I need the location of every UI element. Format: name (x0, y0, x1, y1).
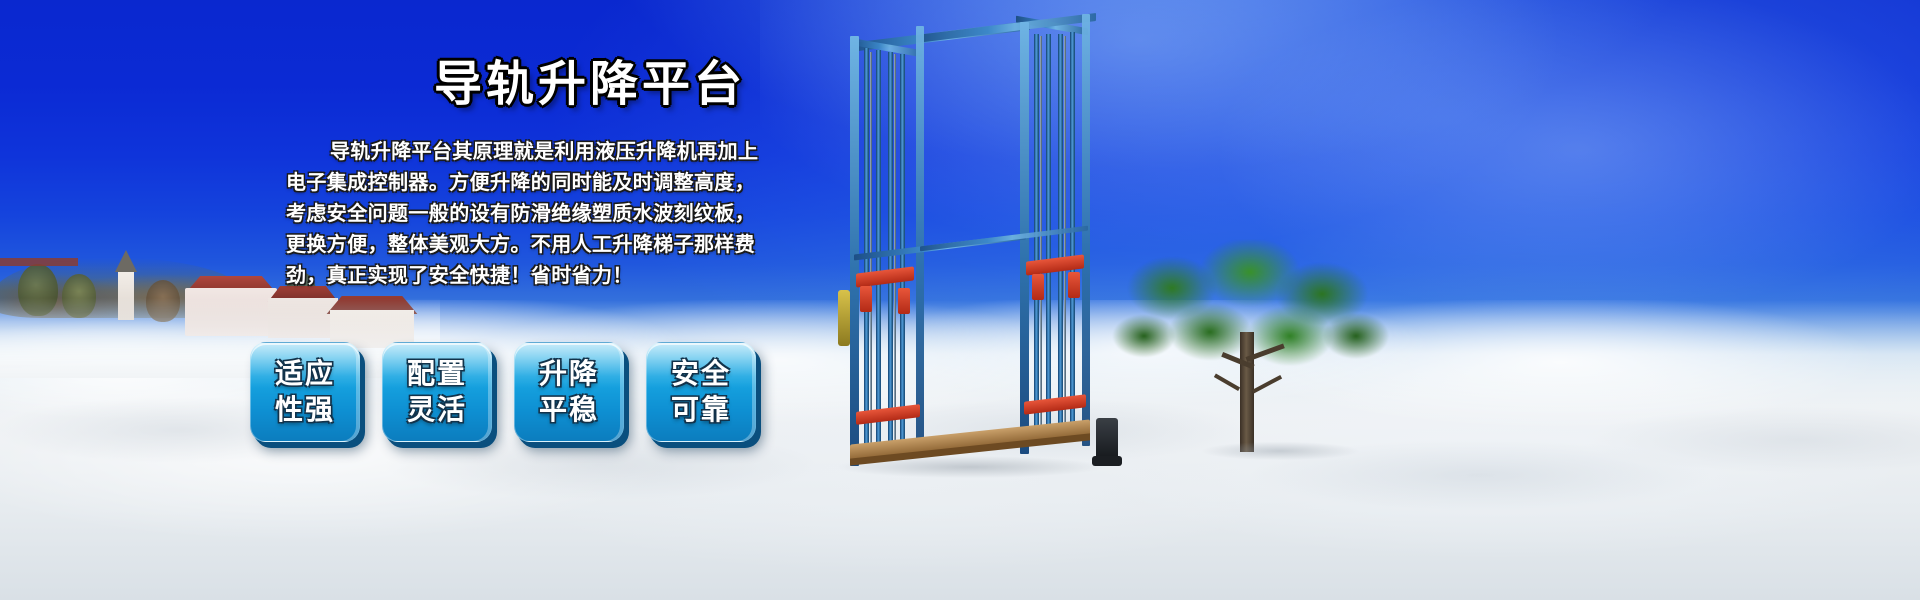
rail-lift-platform-product (820, 8, 1120, 478)
house-balcony (0, 258, 78, 266)
hydraulic-pump-unit (1096, 418, 1118, 460)
carriage-pin (1032, 274, 1044, 300)
feature-badge-adaptability[interactable]: 适应 性强 (250, 342, 360, 442)
description-paragraph: 导轨升降平台其原理就是利用液压升降机再加上 电子集成控制器。方便升降的同时能及时… (286, 136, 764, 291)
tree-shadow (1170, 438, 1390, 464)
feature-label-line1: 安全 (671, 356, 731, 392)
description-line-3: 考虑安全问题一般的设有防滑绝缘塑质水波刻纹板， (286, 198, 764, 229)
description-line-2: 电子集成控制器。方便升降的同时能及时调整高度， (286, 167, 764, 198)
feature-badge-smooth-lifting[interactable]: 升降 平稳 (514, 342, 624, 442)
frame-column-rear-left (916, 26, 924, 456)
feature-label-line1: 升降 (539, 356, 599, 392)
feature-badge-configuration[interactable]: 配置 灵活 (382, 342, 492, 442)
guide-rail (864, 48, 869, 448)
page-title: 导轨升降平台 (380, 56, 800, 112)
feature-badge-safety[interactable]: 安全 可靠 (646, 342, 756, 442)
lift-cable (870, 52, 872, 444)
description-line-4: 更换方便，整体美观大方。不用人工升降梯子那样费 (286, 229, 764, 260)
description-line-1: 导轨升降平台其原理就是利用液压升降机再加上 (286, 136, 764, 167)
feature-label-line2: 平稳 (539, 392, 599, 428)
carriage-pin (860, 286, 872, 312)
guide-rail (876, 50, 881, 448)
feature-label-line2: 灵活 (407, 392, 467, 428)
feature-label-line1: 适应 (275, 356, 335, 392)
description-line-5: 劲，真正实现了安全快捷！省时省力！ (286, 260, 764, 291)
feature-badge-group: 适应 性强 配置 灵活 升降 平稳 安全 可靠 (250, 342, 756, 442)
frame-column-front-left (850, 36, 859, 466)
pump-base (1092, 456, 1122, 466)
carriage-pin (898, 288, 910, 314)
carriage-pin (1068, 272, 1080, 298)
feature-label-line2: 可靠 (671, 392, 731, 428)
feature-label-line2: 性强 (275, 392, 335, 428)
product-banner: 导轨升降平台 导轨升降平台其原理就是利用液压升降机再加上 电子集成控制器。方便升… (0, 0, 1920, 600)
green-tree-scenery (1100, 240, 1400, 470)
control-box (838, 290, 850, 346)
feature-label-line1: 配置 (407, 356, 467, 392)
tree-trunk (1240, 332, 1254, 452)
